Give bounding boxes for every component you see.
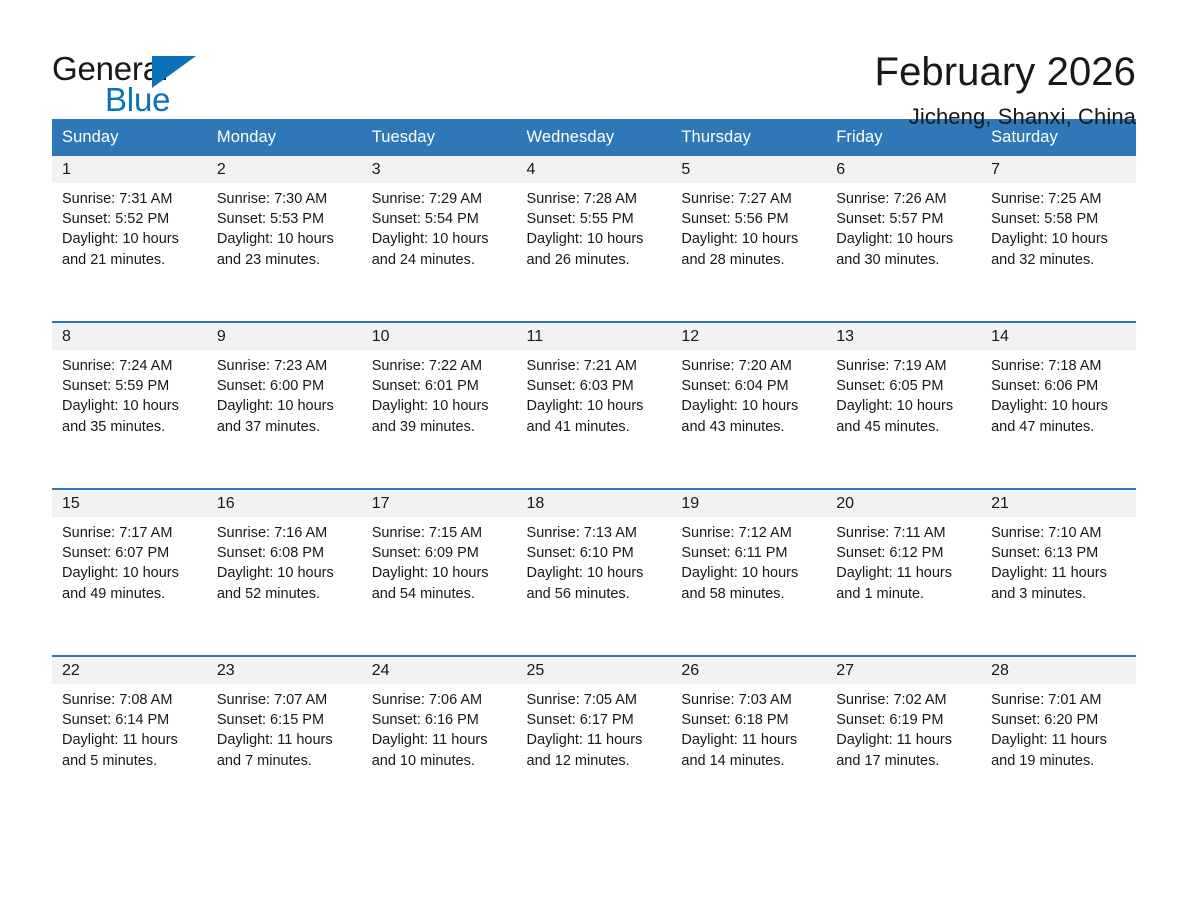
daylight-text: Daylight: 10 hours and 47 minutes. bbox=[991, 396, 1124, 436]
day-number[interactable]: 25 bbox=[517, 656, 672, 684]
day-number[interactable]: 5 bbox=[671, 156, 826, 183]
daylight-text: Daylight: 11 hours and 5 minutes. bbox=[62, 730, 195, 770]
day-number[interactable]: 22 bbox=[52, 656, 207, 684]
sunrise-text: Sunrise: 7:18 AM bbox=[991, 356, 1124, 376]
sunrise-text: Sunrise: 7:16 AM bbox=[217, 523, 350, 543]
daylight-text: Daylight: 10 hours and 49 minutes. bbox=[62, 563, 195, 603]
sunrise-text: Sunrise: 7:20 AM bbox=[681, 356, 814, 376]
day-number[interactable]: 26 bbox=[671, 656, 826, 684]
sunset-text: Sunset: 6:09 PM bbox=[372, 543, 505, 563]
day-cell[interactable]: Sunrise: 7:16 AMSunset: 6:08 PMDaylight:… bbox=[207, 517, 362, 656]
daylight-text: Daylight: 10 hours and 56 minutes. bbox=[527, 563, 660, 603]
daylight-text: Daylight: 10 hours and 39 minutes. bbox=[372, 396, 505, 436]
day-number[interactable]: 15 bbox=[52, 489, 207, 517]
day-number[interactable]: 12 bbox=[671, 322, 826, 350]
daylight-text: Daylight: 10 hours and 26 minutes. bbox=[527, 229, 660, 269]
sunrise-text: Sunrise: 7:15 AM bbox=[372, 523, 505, 543]
day-cell[interactable]: Sunrise: 7:10 AMSunset: 6:13 PMDaylight:… bbox=[981, 517, 1136, 656]
sunset-text: Sunset: 5:52 PM bbox=[62, 209, 195, 229]
sunrise-text: Sunrise: 7:07 AM bbox=[217, 690, 350, 710]
calendar-info-row: Sunrise: 7:08 AMSunset: 6:14 PMDaylight:… bbox=[52, 684, 1136, 822]
day-number[interactable]: 18 bbox=[517, 489, 672, 517]
daylight-text: Daylight: 10 hours and 45 minutes. bbox=[836, 396, 969, 436]
sunset-text: Sunset: 5:57 PM bbox=[836, 209, 969, 229]
sunset-text: Sunset: 5:55 PM bbox=[527, 209, 660, 229]
sunrise-text: Sunrise: 7:05 AM bbox=[527, 690, 660, 710]
sunrise-text: Sunrise: 7:27 AM bbox=[681, 189, 814, 209]
sunset-text: Sunset: 6:07 PM bbox=[62, 543, 195, 563]
sunrise-text: Sunrise: 7:28 AM bbox=[527, 189, 660, 209]
daylight-text: Daylight: 11 hours and 14 minutes. bbox=[681, 730, 814, 770]
sunrise-text: Sunrise: 7:01 AM bbox=[991, 690, 1124, 710]
day-number[interactable]: 17 bbox=[362, 489, 517, 517]
sunrise-text: Sunrise: 7:11 AM bbox=[836, 523, 969, 543]
day-number[interactable]: 10 bbox=[362, 322, 517, 350]
sunrise-text: Sunrise: 7:26 AM bbox=[836, 189, 969, 209]
calendar-daynumber-row: 891011121314 bbox=[52, 322, 1136, 350]
day-cell[interactable]: Sunrise: 7:30 AMSunset: 5:53 PMDaylight:… bbox=[207, 183, 362, 322]
day-number[interactable]: 24 bbox=[362, 656, 517, 684]
day-number[interactable]: 2 bbox=[207, 156, 362, 183]
daylight-text: Daylight: 10 hours and 37 minutes. bbox=[217, 396, 350, 436]
weekday-header-wednesday: Wednesday bbox=[517, 119, 672, 156]
sunset-text: Sunset: 6:10 PM bbox=[527, 543, 660, 563]
day-cell[interactable]: Sunrise: 7:15 AMSunset: 6:09 PMDaylight:… bbox=[362, 517, 517, 656]
sunset-text: Sunset: 6:16 PM bbox=[372, 710, 505, 730]
generalblue-logo[interactable]: General Blue bbox=[52, 48, 252, 120]
sunrise-text: Sunrise: 7:19 AM bbox=[836, 356, 969, 376]
sunset-text: Sunset: 6:20 PM bbox=[991, 710, 1124, 730]
day-cell[interactable]: Sunrise: 7:29 AMSunset: 5:54 PMDaylight:… bbox=[362, 183, 517, 322]
day-number[interactable]: 19 bbox=[671, 489, 826, 517]
day-cell[interactable]: Sunrise: 7:01 AMSunset: 6:20 PMDaylight:… bbox=[981, 684, 1136, 822]
day-number[interactable]: 16 bbox=[207, 489, 362, 517]
day-number[interactable]: 11 bbox=[517, 322, 672, 350]
day-cell[interactable]: Sunrise: 7:08 AMSunset: 6:14 PMDaylight:… bbox=[52, 684, 207, 822]
sunset-text: Sunset: 6:11 PM bbox=[681, 543, 814, 563]
sunset-text: Sunset: 6:06 PM bbox=[991, 376, 1124, 396]
day-cell[interactable]: Sunrise: 7:24 AMSunset: 5:59 PMDaylight:… bbox=[52, 350, 207, 489]
daylight-text: Daylight: 11 hours and 17 minutes. bbox=[836, 730, 969, 770]
daylight-text: Daylight: 11 hours and 7 minutes. bbox=[217, 730, 350, 770]
sunset-text: Sunset: 5:59 PM bbox=[62, 376, 195, 396]
day-cell[interactable]: Sunrise: 7:07 AMSunset: 6:15 PMDaylight:… bbox=[207, 684, 362, 822]
calendar-table: SundayMondayTuesdayWednesdayThursdayFrid… bbox=[52, 119, 1136, 822]
day-cell[interactable]: Sunrise: 7:12 AMSunset: 6:11 PMDaylight:… bbox=[671, 517, 826, 656]
day-cell[interactable]: Sunrise: 7:17 AMSunset: 6:07 PMDaylight:… bbox=[52, 517, 207, 656]
sunrise-text: Sunrise: 7:24 AM bbox=[62, 356, 195, 376]
weekday-header-sunday: Sunday bbox=[52, 119, 207, 156]
sunset-text: Sunset: 5:53 PM bbox=[217, 209, 350, 229]
calendar-daynumber-row: 22232425262728 bbox=[52, 656, 1136, 684]
logo-text-blue: Blue bbox=[105, 83, 170, 116]
sunrise-text: Sunrise: 7:25 AM bbox=[991, 189, 1124, 209]
calendar-page: General Blue February 2026 Jicheng, Shan… bbox=[0, 0, 1188, 918]
sunrise-text: Sunrise: 7:02 AM bbox=[836, 690, 969, 710]
sunrise-text: Sunrise: 7:10 AM bbox=[991, 523, 1124, 543]
calendar-body: 1234567Sunrise: 7:31 AMSunset: 5:52 PMDa… bbox=[52, 156, 1136, 822]
daylight-text: Daylight: 10 hours and 43 minutes. bbox=[681, 396, 814, 436]
sunset-text: Sunset: 6:17 PM bbox=[527, 710, 660, 730]
day-cell[interactable]: Sunrise: 7:26 AMSunset: 5:57 PMDaylight:… bbox=[826, 183, 981, 322]
weekday-header-thursday: Thursday bbox=[671, 119, 826, 156]
title-block: February 2026 Jicheng, Shanxi, China bbox=[875, 48, 1136, 130]
day-number[interactable]: 7 bbox=[981, 156, 1136, 183]
sunrise-text: Sunrise: 7:31 AM bbox=[62, 189, 195, 209]
daylight-text: Daylight: 10 hours and 30 minutes. bbox=[836, 229, 969, 269]
calendar-daynumber-row: 15161718192021 bbox=[52, 489, 1136, 517]
calendar-daynumber-row: 1234567 bbox=[52, 156, 1136, 183]
weekday-header-monday: Monday bbox=[207, 119, 362, 156]
page-header: General Blue February 2026 Jicheng, Shan… bbox=[52, 0, 1136, 104]
sunset-text: Sunset: 6:12 PM bbox=[836, 543, 969, 563]
daylight-text: Daylight: 10 hours and 54 minutes. bbox=[372, 563, 505, 603]
daylight-text: Daylight: 11 hours and 19 minutes. bbox=[991, 730, 1124, 770]
day-cell[interactable]: Sunrise: 7:28 AMSunset: 5:55 PMDaylight:… bbox=[517, 183, 672, 322]
day-cell[interactable]: Sunrise: 7:13 AMSunset: 6:10 PMDaylight:… bbox=[517, 517, 672, 656]
location-subtitle: Jicheng, Shanxi, China bbox=[875, 104, 1136, 130]
daylight-text: Daylight: 10 hours and 23 minutes. bbox=[217, 229, 350, 269]
day-number[interactable]: 4 bbox=[517, 156, 672, 183]
day-cell[interactable]: Sunrise: 7:19 AMSunset: 6:05 PMDaylight:… bbox=[826, 350, 981, 489]
sunrise-text: Sunrise: 7:21 AM bbox=[527, 356, 660, 376]
daylight-text: Daylight: 10 hours and 28 minutes. bbox=[681, 229, 814, 269]
daylight-text: Daylight: 11 hours and 1 minute. bbox=[836, 563, 969, 603]
sunset-text: Sunset: 6:18 PM bbox=[681, 710, 814, 730]
sunrise-text: Sunrise: 7:12 AM bbox=[681, 523, 814, 543]
sunset-text: Sunset: 5:58 PM bbox=[991, 209, 1124, 229]
sunrise-text: Sunrise: 7:29 AM bbox=[372, 189, 505, 209]
weekday-header-tuesday: Tuesday bbox=[362, 119, 517, 156]
daylight-text: Daylight: 10 hours and 52 minutes. bbox=[217, 563, 350, 603]
sunrise-text: Sunrise: 7:03 AM bbox=[681, 690, 814, 710]
day-cell[interactable]: Sunrise: 7:21 AMSunset: 6:03 PMDaylight:… bbox=[517, 350, 672, 489]
day-cell[interactable]: Sunrise: 7:25 AMSunset: 5:58 PMDaylight:… bbox=[981, 183, 1136, 322]
day-cell[interactable]: Sunrise: 7:31 AMSunset: 5:52 PMDaylight:… bbox=[52, 183, 207, 322]
calendar-info-row: Sunrise: 7:17 AMSunset: 6:07 PMDaylight:… bbox=[52, 517, 1136, 656]
sunset-text: Sunset: 5:54 PM bbox=[372, 209, 505, 229]
day-cell[interactable]: Sunrise: 7:06 AMSunset: 6:16 PMDaylight:… bbox=[362, 684, 517, 822]
sunset-text: Sunset: 6:01 PM bbox=[372, 376, 505, 396]
day-cell[interactable]: Sunrise: 7:05 AMSunset: 6:17 PMDaylight:… bbox=[517, 684, 672, 822]
daylight-text: Daylight: 10 hours and 21 minutes. bbox=[62, 229, 195, 269]
day-number[interactable]: 28 bbox=[981, 656, 1136, 684]
sunset-text: Sunset: 6:19 PM bbox=[836, 710, 969, 730]
day-number[interactable]: 23 bbox=[207, 656, 362, 684]
daylight-text: Daylight: 10 hours and 41 minutes. bbox=[527, 396, 660, 436]
sunrise-text: Sunrise: 7:22 AM bbox=[372, 356, 505, 376]
sunset-text: Sunset: 6:15 PM bbox=[217, 710, 350, 730]
day-cell[interactable]: Sunrise: 7:20 AMSunset: 6:04 PMDaylight:… bbox=[671, 350, 826, 489]
daylight-text: Daylight: 10 hours and 32 minutes. bbox=[991, 229, 1124, 269]
sunrise-text: Sunrise: 7:17 AM bbox=[62, 523, 195, 543]
sunrise-text: Sunrise: 7:06 AM bbox=[372, 690, 505, 710]
sunset-text: Sunset: 5:56 PM bbox=[681, 209, 814, 229]
day-number[interactable]: 6 bbox=[826, 156, 981, 183]
calendar-info-row: Sunrise: 7:24 AMSunset: 5:59 PMDaylight:… bbox=[52, 350, 1136, 489]
daylight-text: Daylight: 11 hours and 12 minutes. bbox=[527, 730, 660, 770]
day-cell[interactable]: Sunrise: 7:02 AMSunset: 6:19 PMDaylight:… bbox=[826, 684, 981, 822]
day-number[interactable]: 13 bbox=[826, 322, 981, 350]
daylight-text: Daylight: 10 hours and 24 minutes. bbox=[372, 229, 505, 269]
sunrise-text: Sunrise: 7:13 AM bbox=[527, 523, 660, 543]
day-number[interactable]: 3 bbox=[362, 156, 517, 183]
daylight-text: Daylight: 11 hours and 3 minutes. bbox=[991, 563, 1124, 603]
calendar-info-row: Sunrise: 7:31 AMSunset: 5:52 PMDaylight:… bbox=[52, 183, 1136, 322]
day-cell[interactable]: Sunrise: 7:23 AMSunset: 6:00 PMDaylight:… bbox=[207, 350, 362, 489]
day-number[interactable]: 20 bbox=[826, 489, 981, 517]
day-number[interactable]: 21 bbox=[981, 489, 1136, 517]
sunrise-text: Sunrise: 7:08 AM bbox=[62, 690, 195, 710]
daylight-text: Daylight: 10 hours and 35 minutes. bbox=[62, 396, 195, 436]
sunset-text: Sunset: 6:14 PM bbox=[62, 710, 195, 730]
daylight-text: Daylight: 10 hours and 58 minutes. bbox=[681, 563, 814, 603]
day-number[interactable]: 27 bbox=[826, 656, 981, 684]
day-cell[interactable]: Sunrise: 7:22 AMSunset: 6:01 PMDaylight:… bbox=[362, 350, 517, 489]
sunset-text: Sunset: 6:13 PM bbox=[991, 543, 1124, 563]
day-cell[interactable]: Sunrise: 7:03 AMSunset: 6:18 PMDaylight:… bbox=[671, 684, 826, 822]
sunset-text: Sunset: 6:00 PM bbox=[217, 376, 350, 396]
day-cell[interactable]: Sunrise: 7:11 AMSunset: 6:12 PMDaylight:… bbox=[826, 517, 981, 656]
day-number[interactable]: 1 bbox=[52, 156, 207, 183]
page-title: February 2026 bbox=[875, 50, 1136, 95]
day-cell[interactable]: Sunrise: 7:18 AMSunset: 6:06 PMDaylight:… bbox=[981, 350, 1136, 489]
day-number[interactable]: 9 bbox=[207, 322, 362, 350]
day-cell[interactable]: Sunrise: 7:27 AMSunset: 5:56 PMDaylight:… bbox=[671, 183, 826, 322]
sunset-text: Sunset: 6:08 PM bbox=[217, 543, 350, 563]
day-number[interactable]: 8 bbox=[52, 322, 207, 350]
day-number[interactable]: 14 bbox=[981, 322, 1136, 350]
daylight-text: Daylight: 11 hours and 10 minutes. bbox=[372, 730, 505, 770]
sunset-text: Sunset: 6:05 PM bbox=[836, 376, 969, 396]
sunset-text: Sunset: 6:04 PM bbox=[681, 376, 814, 396]
sunset-text: Sunset: 6:03 PM bbox=[527, 376, 660, 396]
sunrise-text: Sunrise: 7:30 AM bbox=[217, 189, 350, 209]
sunrise-text: Sunrise: 7:23 AM bbox=[217, 356, 350, 376]
